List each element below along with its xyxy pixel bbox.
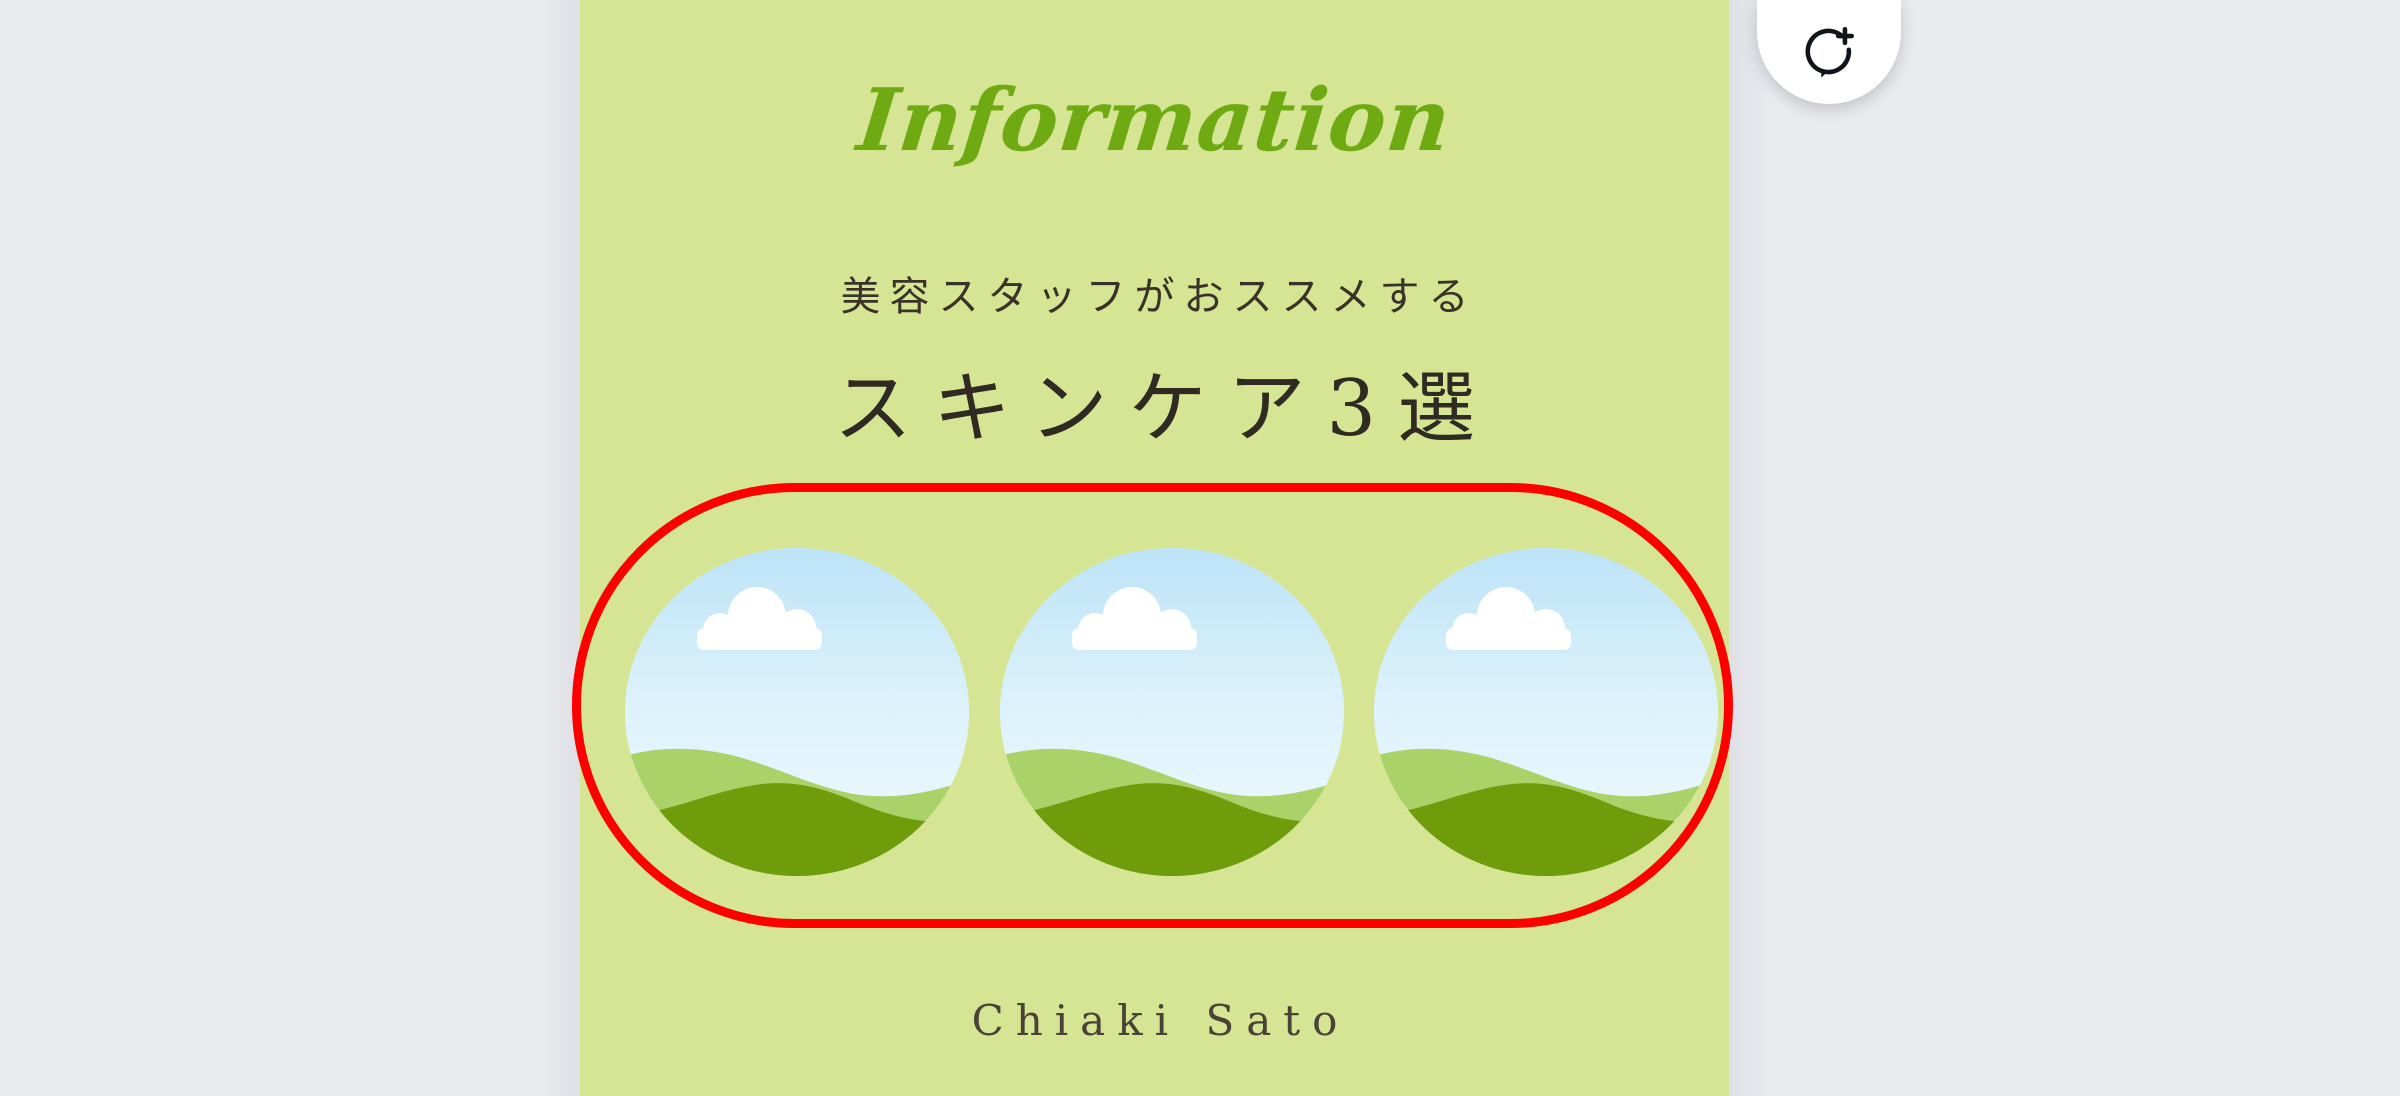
author-name: Chiaki Sato	[580, 1000, 1729, 1042]
add-comment-button[interactable]	[1757, 0, 1901, 104]
canvas-workspace: Information 美容スタッフがおススメする スキンケア3選	[0, 0, 2400, 1096]
photo-placeholder-2[interactable]	[1000, 548, 1344, 876]
photo-row	[625, 548, 1718, 876]
artboard-shadow-right	[1729, 0, 1771, 1096]
artboard-shadow-left	[538, 0, 580, 1096]
photo-placeholder-3[interactable]	[1374, 548, 1718, 876]
main-headline: スキンケア3選	[580, 368, 1729, 451]
sub-headline: 美容スタッフがおススメする	[580, 277, 1729, 317]
flyer-artboard[interactable]: Information 美容スタッフがおススメする スキンケア3選	[580, 0, 1729, 1096]
script-title: Information	[580, 78, 1729, 164]
photo-placeholder-1[interactable]	[625, 548, 969, 876]
speech-bubble-plus-icon	[1800, 23, 1858, 81]
